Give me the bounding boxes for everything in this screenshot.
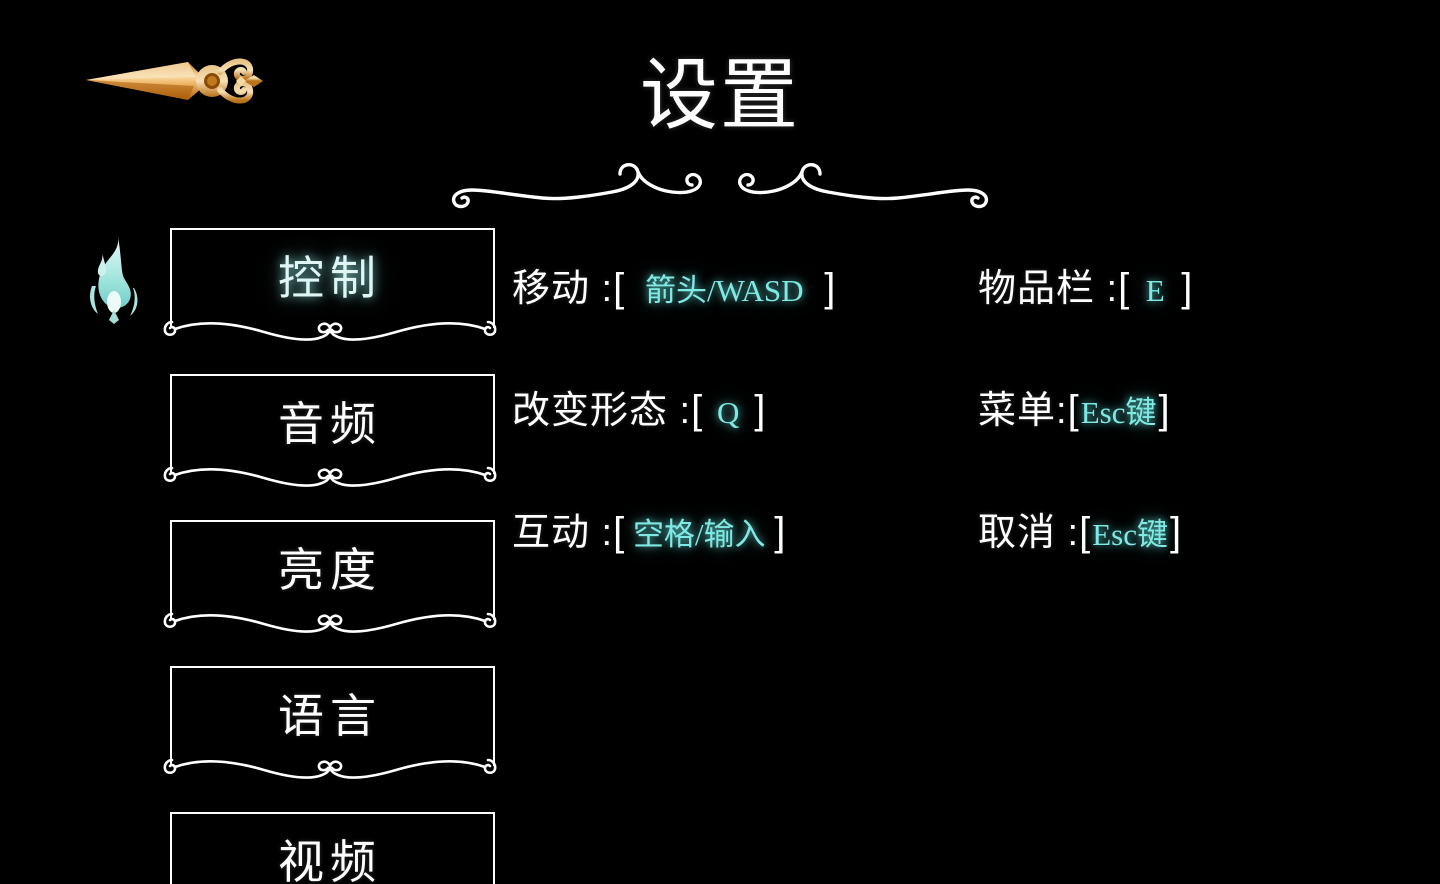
bracket-open: [ <box>613 266 624 310</box>
binding-move[interactable]: 移动 : [ 箭头/WASD ] <box>512 266 835 313</box>
binding-move-label: 移动 : <box>512 267 613 311</box>
binding-interact-key[interactable]: 空格/输入 <box>624 513 774 557</box>
binding-change-form[interactable]: 改变形态 : [ Q ] <box>512 388 765 435</box>
menu-item-flourish-icon <box>160 606 500 640</box>
bracket-close: ] <box>824 266 835 310</box>
binding-interact-label: 互动 : <box>512 511 613 555</box>
binding-menu[interactable]: 菜单: [ Esc键 ] <box>978 388 1170 435</box>
menu-item-audio[interactable]: 音频 <box>160 374 500 496</box>
binding-cancel-key[interactable]: Esc键 <box>1090 513 1170 557</box>
flourish-right-icon <box>728 160 1000 216</box>
bracket-open: [ <box>613 510 624 554</box>
binding-move-key[interactable]: 箭头/WASD <box>624 269 824 313</box>
bracket-open: [ <box>1068 388 1079 432</box>
binding-inventory-label: 物品栏 : <box>978 267 1118 311</box>
binding-change-form-label: 改变形态 : <box>512 389 691 433</box>
menu-item-brightness[interactable]: 亮度 <box>160 520 500 642</box>
key-bindings-panel: 移动 : [ 箭头/WASD ] 物品栏 : [ E ] 改变形态 : [ Q … <box>512 228 1412 594</box>
title-ornament-row <box>440 160 1000 216</box>
bracket-open: [ <box>691 388 702 432</box>
bracket-open: [ <box>1079 510 1090 554</box>
menu-item-flourish-icon <box>160 460 500 494</box>
bracket-close: ] <box>1181 266 1192 310</box>
menu-item-label: 控制 <box>160 228 500 328</box>
flame-marker-icon <box>82 232 144 328</box>
settings-menu: 控制 音频 <box>160 228 506 884</box>
menu-item-video[interactable]: 视频 <box>160 812 500 884</box>
menu-item-label: 视频 <box>160 812 500 884</box>
settings-screen: 设置 <box>0 0 1440 884</box>
menu-item-controls[interactable]: 控制 <box>160 228 500 350</box>
menu-item-flourish-icon <box>160 752 500 786</box>
menu-item-language[interactable]: 语言 <box>160 666 500 788</box>
menu-item-label: 音频 <box>160 374 500 474</box>
binding-cancel-label: 取消 : <box>978 511 1079 555</box>
bracket-open: [ <box>1118 266 1129 310</box>
binding-menu-label: 菜单: <box>978 389 1068 433</box>
binding-menu-key[interactable]: Esc键 <box>1079 391 1159 435</box>
binding-inventory[interactable]: 物品栏 : [ E ] <box>978 266 1192 313</box>
bracket-close: ] <box>1158 388 1169 432</box>
binding-row-move: 移动 : [ 箭头/WASD ] 物品栏 : [ E ] <box>512 228 1412 350</box>
menu-item-label: 亮度 <box>160 520 500 620</box>
binding-cancel[interactable]: 取消 : [ Esc键 ] <box>978 510 1181 557</box>
bracket-close: ] <box>774 510 785 554</box>
binding-change-form-key[interactable]: Q <box>702 391 754 435</box>
binding-interact[interactable]: 互动 : [ 空格/输入 ] <box>512 510 785 557</box>
bracket-close: ] <box>1170 510 1181 554</box>
menu-item-label: 语言 <box>160 666 500 766</box>
page-title: 设置 <box>0 52 1440 138</box>
binding-inventory-key[interactable]: E <box>1129 269 1181 313</box>
flourish-left-icon <box>440 160 712 216</box>
bracket-close: ] <box>754 388 765 432</box>
menu-item-flourish-icon <box>160 314 500 348</box>
binding-row-change-form: 改变形态 : [ Q ] 菜单: [ Esc键 ] <box>512 350 1412 472</box>
binding-row-interact: 互动 : [ 空格/输入 ] 取消 : [ Esc键 ] <box>512 472 1412 594</box>
